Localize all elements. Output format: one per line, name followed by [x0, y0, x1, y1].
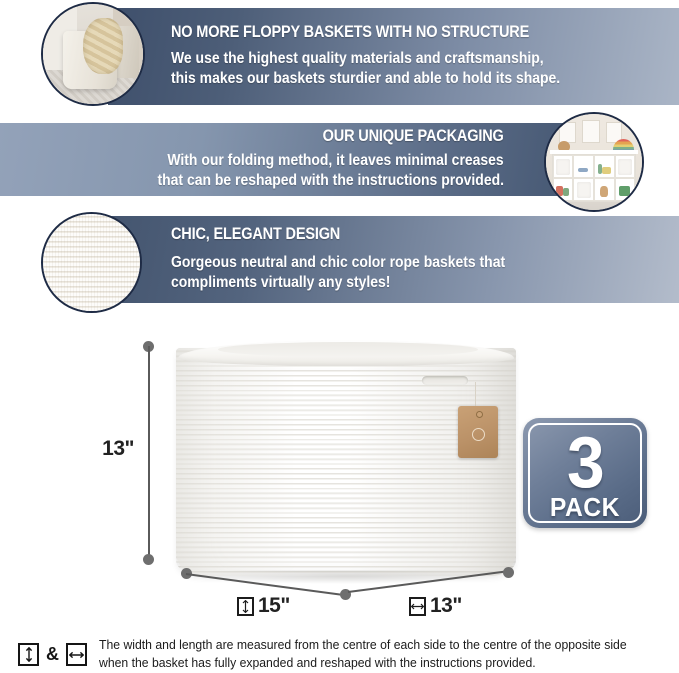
dim-label-depth-text: 13" [430, 594, 462, 617]
photo-kids-room-cube-shelf [544, 112, 644, 212]
banner-heading: NO MORE FLOPPY BASKETS WITH NO STRUCTURE [171, 23, 529, 41]
footnote-line-1: The width and length are measured from t… [99, 638, 627, 652]
horizontal-arrow-icon [66, 643, 87, 666]
dim-dot-depth-right [503, 567, 514, 578]
banner-body-line-2: that can be reshaped with the instructio… [158, 171, 504, 191]
dim-dot-height-bottom [143, 554, 154, 565]
feature-banner-no-more-floppy-baskets: NO MORE FLOPPY BASKETS WITH NO STRUCTURE… [108, 8, 679, 105]
dim-label-width-text: 15" [258, 594, 290, 617]
measurement-footnote: & The width and length are measured from… [18, 637, 666, 673]
dim-label-width: 15" [237, 594, 290, 618]
pack-number: 3 [550, 427, 619, 499]
footnote-line-2: when the basket has fully expanded and r… [99, 656, 536, 670]
hang-tag-string [475, 382, 477, 408]
brand-logo-icon [472, 428, 485, 441]
dim-label-depth: 13" [409, 594, 462, 618]
banner-body-line-1: We use the highest quality materials and… [171, 49, 544, 69]
product-basket-illustration [176, 340, 516, 580]
dim-line-height [148, 346, 150, 559]
basket-handle-cutout [422, 376, 468, 385]
banner-body-line-1: With our folding method, it leaves minim… [168, 151, 504, 171]
banner-heading: OUR UNIQUE PACKAGING [323, 127, 504, 145]
feature-banner-chic-elegant-design: CHIC, ELEGANT DESIGN Gorgeous neutral an… [108, 216, 679, 303]
dim-label-height: 13" [102, 437, 143, 461]
photo-rope-texture-closeup [41, 212, 142, 313]
basket-rim [178, 340, 514, 366]
pack-word: PACK [550, 494, 620, 520]
banner-body-line-2: this makes our baskets sturdier and able… [171, 69, 560, 89]
horizontal-arrow-icon [409, 597, 426, 616]
banner-heading: CHIC, ELEGANT DESIGN [171, 225, 340, 243]
banner-body-line-1: Gorgeous neutral and chic color rope bas… [171, 253, 505, 273]
feature-banner-our-unique-packaging: OUR UNIQUE PACKAGING With our folding me… [0, 123, 570, 196]
banner-body-line-2: compliments virtually any styles! [171, 273, 390, 293]
hang-tag [458, 406, 498, 458]
three-pack-badge: 3 PACK [523, 418, 647, 528]
vertical-arrow-icon [18, 643, 39, 666]
vertical-arrow-icon [237, 597, 254, 616]
photo-basket-with-knit-blanket [41, 2, 145, 106]
footnote-text: The width and length are measured from t… [99, 637, 627, 673]
footnote-ampersand: & [46, 644, 59, 665]
